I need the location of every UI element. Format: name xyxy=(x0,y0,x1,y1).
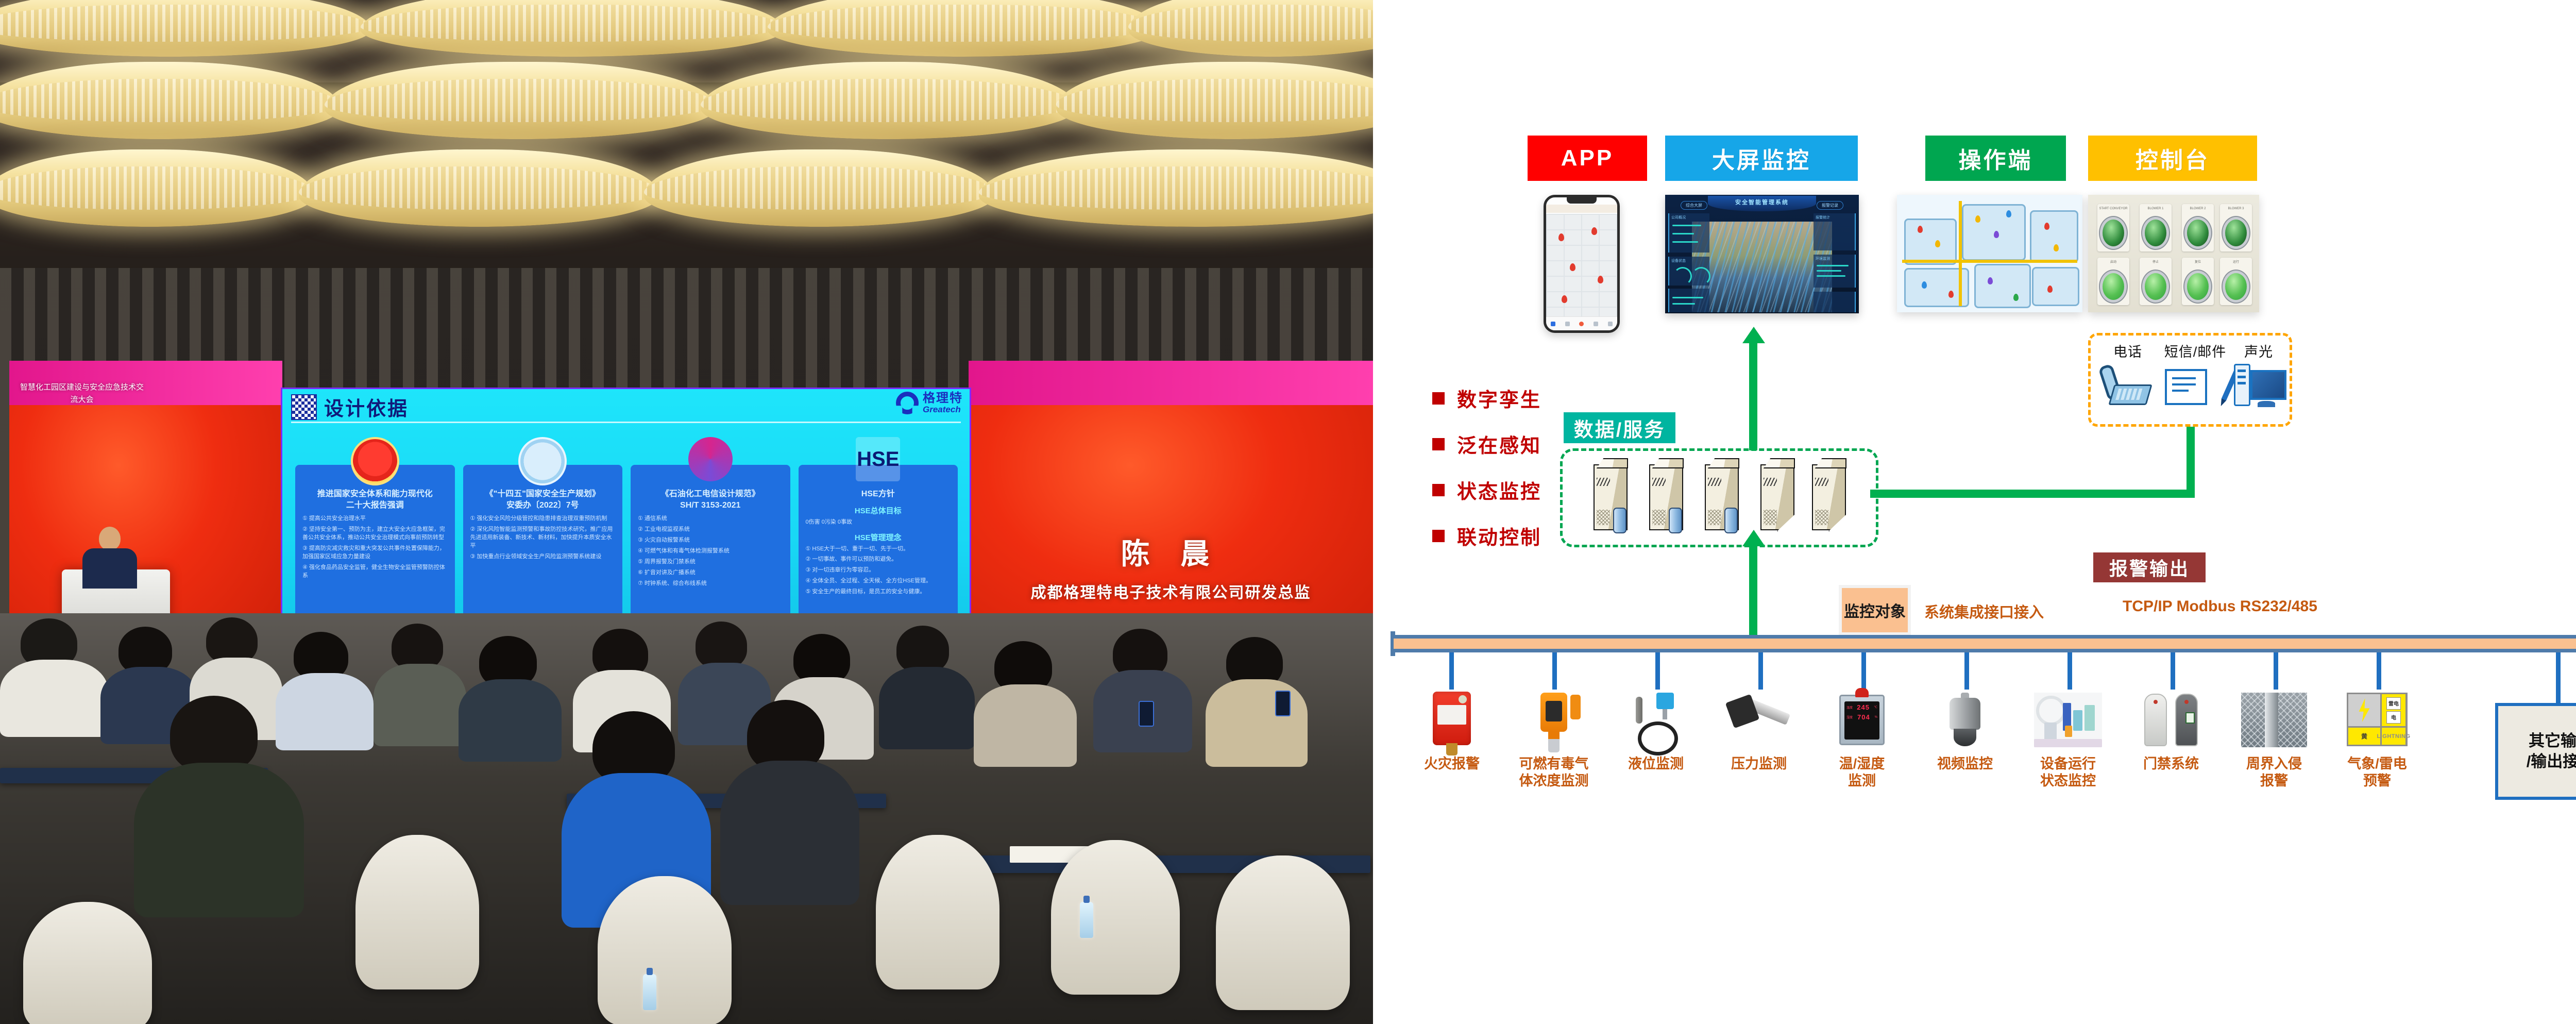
bullet-item: 泛在感知 xyxy=(1432,430,1541,458)
sensor-temp-humidity[interactable]: 温度245℃ 湿度704% 温/湿度 监测 xyxy=(1818,690,1906,790)
arrow-head-icon xyxy=(1742,327,1765,343)
console-button[interactable]: START CONVEYOR xyxy=(2097,204,2129,251)
header-big-screen-label: 大屏监控 xyxy=(1712,142,1811,175)
bullet-square-icon xyxy=(1432,484,1445,496)
drop-line xyxy=(1449,652,1454,690)
header-big-screen[interactable]: 大屏监控 xyxy=(1665,136,1858,181)
console-button-label: 复位 xyxy=(2182,261,2214,265)
sensor-fire-alarm[interactable]: 火灾报警 xyxy=(1408,690,1496,773)
column-3-heading: 《石油化工电信设计规范》 SH/T 3153-2021 xyxy=(638,489,783,511)
sensor-label: 视频监控 xyxy=(1921,756,2009,773)
server-icon xyxy=(1812,464,1846,530)
tag-data-service-label: 数据/服务 xyxy=(1574,414,1666,442)
hse-concept-line: ① HSE大于一切、重于一切、先于一切。 xyxy=(806,545,951,553)
indicator-lamp-icon xyxy=(2103,273,2124,300)
indicator-lamp-icon xyxy=(2103,220,2124,246)
alarm-output-label: 电话 xyxy=(2099,341,2157,361)
level-sensor-icon xyxy=(1612,690,1700,752)
dashboard-panel-right-3 xyxy=(1814,292,1856,312)
column-4-heading: HSE方针 xyxy=(806,489,951,500)
sensor-gas-detector[interactable]: 可燃有毒气 体浓度监测 xyxy=(1510,690,1598,790)
protocol-bus-list: TCP/IP Modbus RS232/485 xyxy=(2123,598,2317,615)
tab-center-icon[interactable] xyxy=(1579,322,1584,326)
temp-humidity-icon: 温度245℃ 湿度704% xyxy=(1818,690,1906,752)
hse-concept-line: ④ 全体全员、全过程、全天候、全方位HSE管理。 xyxy=(806,577,951,585)
tag-monitor-object: 监控对象 xyxy=(1842,588,1908,632)
console-button[interactable]: 停止 xyxy=(2140,258,2172,305)
drop-line xyxy=(1861,652,1866,690)
lightning-card-cn: 雷电 xyxy=(2386,697,2401,710)
sensor-cctv[interactable]: 视频监控 xyxy=(1921,690,2009,773)
phone-map-view xyxy=(1546,214,1617,317)
dashboard-3d-plant xyxy=(1692,222,1832,312)
alarm-output-sms: 短信/邮件 xyxy=(2157,341,2234,408)
column-1-line: ② 坚持安全第一、预防为主，建立大安全大应急框架，完善公共安全体系，推动公共安全… xyxy=(302,526,448,542)
indicator-lamp-icon xyxy=(2187,220,2209,246)
greatech-logo-icon xyxy=(896,392,919,414)
bullet-label: 联动控制 xyxy=(1457,522,1541,550)
console-button[interactable]: BLOWER 3 xyxy=(2220,204,2252,251)
conference-photo: 智慧化工园区建设与安全应急技术交流大会 陈 晨 成都格理特电子技术有限公司研发总… xyxy=(0,0,1373,1024)
column-3-line: ③ 火灾自动报警系统 xyxy=(638,536,783,545)
dashboard-panel-left-3 xyxy=(1668,289,1709,312)
alarm-output-label: 声光 xyxy=(2231,341,2286,361)
audible-visual-icon xyxy=(2231,364,2286,408)
field-bus-bar xyxy=(1394,635,2576,652)
lightning-warning-icon: 雷电电 黄 LIGHTNING xyxy=(2333,690,2421,752)
alarm-output-group: 电话 短信/邮件 声光 xyxy=(2088,333,2292,427)
column-1-line: ④ 强化食品药品安全监管，健全生物安全监管预警防控体系 xyxy=(302,564,448,580)
sensor-label: 周界入侵 报警 xyxy=(2230,756,2318,790)
bullet-item: 联动控制 xyxy=(1432,522,1541,550)
column-3-line: ① 通信系统 xyxy=(638,515,783,523)
logo-text-cn: 格理特 xyxy=(923,392,963,405)
header-app[interactable]: APP xyxy=(1528,136,1647,181)
console-button[interactable]: BLOWER 1 xyxy=(2140,204,2172,251)
phone-topbar xyxy=(1546,205,1617,213)
tab-profile-icon[interactable] xyxy=(1608,322,1613,326)
column-3-line: ④ 可燃气体和有毒气体检测报警系统 xyxy=(638,547,783,556)
hse-concept-heading: HSE管理理念 xyxy=(806,532,951,543)
sensor-label: 气象/雷电 预警 xyxy=(2333,756,2421,790)
gas-detector-icon xyxy=(1510,690,1598,752)
dashboard-pill-left[interactable]: 综合大屏 xyxy=(1681,201,1707,210)
header-app-label: APP xyxy=(1561,145,1614,171)
arrow-head-icon xyxy=(1742,530,1765,546)
sensor-pressure[interactable]: 压力监测 xyxy=(1715,690,1803,773)
perimeter-fence-icon xyxy=(2230,690,2318,752)
server-icon xyxy=(1760,464,1794,530)
sensor-label: 设备运行 状态监控 xyxy=(2024,756,2112,790)
cctv-camera-icon xyxy=(1921,690,2009,752)
tab-report-icon[interactable] xyxy=(1594,322,1598,326)
server-icon xyxy=(1594,464,1628,530)
indicator-lamp-icon xyxy=(2145,220,2166,246)
speaker-name: 陈 晨 xyxy=(969,531,1373,573)
header-operation-terminal-label: 操作端 xyxy=(1959,142,2033,175)
fire-alarm-icon xyxy=(1408,690,1496,752)
dashboard-panel-right-1: 报警统计 xyxy=(1814,213,1856,250)
audience-seating xyxy=(0,613,1373,1024)
sensor-label: 可燃有毒气 体浓度监测 xyxy=(1510,756,1598,790)
hse-badge-icon: HSE xyxy=(856,437,900,481)
server-icon xyxy=(1649,464,1683,530)
sensor-label: 温/湿度 监测 xyxy=(1818,756,1906,790)
console-button-label: BLOWER 1 xyxy=(2140,207,2172,211)
column-2-heading: 《"十四五"国家安全生产规划》 安委办〔2022〕7号 xyxy=(470,489,616,511)
console-button-label: BLOWER 2 xyxy=(2182,207,2214,211)
header-operation-terminal[interactable]: 操作端 xyxy=(1925,136,2066,181)
column-1-line: ① 提高公共安全治理水平 xyxy=(302,515,448,523)
drop-line xyxy=(2067,652,2072,690)
tag-monitor-object-label: 监控对象 xyxy=(1844,599,1906,622)
console-button-label: START CONVEYOR xyxy=(2097,207,2129,211)
server-icon xyxy=(1705,464,1739,530)
drop-line-other-io xyxy=(2556,652,2561,706)
sms-email-icon xyxy=(2157,364,2234,408)
dashboard-pill-right[interactable]: 报警记录 xyxy=(1817,201,1843,210)
column-2-line: ③ 加快重点行业领域安全生产风险监测预警系统建设 xyxy=(470,553,616,561)
other-io-interface-box[interactable]: 其它输入 /输出接口 xyxy=(2495,703,2576,800)
header-control-console[interactable]: 控制台 xyxy=(2088,136,2257,181)
arrow-bus-to-data xyxy=(1749,544,1757,640)
tag-data-service: 数据/服务 xyxy=(1564,412,1675,443)
protocol-system-integration: 系统集成接口接入 xyxy=(1924,600,2044,622)
column-3-line: ② 工业电视监视系统 xyxy=(638,526,783,534)
lightning-card-en: LIGHTNING xyxy=(2382,728,2405,745)
slide-title: 设计依据 xyxy=(324,393,409,421)
sensor-level[interactable]: 液位监测 xyxy=(1612,690,1700,773)
phone-notch xyxy=(1567,197,1597,204)
alarm-output-label: 短信/邮件 xyxy=(2157,341,2234,361)
hse-concept-line: ② 一切事故、事件可以预防和避免。 xyxy=(806,556,951,564)
indicator-lamp-icon xyxy=(2225,273,2247,300)
bullet-label: 泛在感知 xyxy=(1457,430,1541,458)
tag-alarm-output: 报警输出 xyxy=(2093,552,2206,582)
indicator-lamp-icon xyxy=(2187,273,2209,300)
tab-home-icon[interactable] xyxy=(1551,322,1555,326)
slide-divider xyxy=(291,422,961,423)
bullet-label: 状态监控 xyxy=(1457,476,1541,504)
alarm-output-audible: 声光 xyxy=(2231,341,2286,408)
arrow-data-to-alarm-v xyxy=(2187,426,2195,497)
console-button[interactable]: 运行 xyxy=(2220,258,2252,305)
drop-line xyxy=(2171,652,2175,690)
phone-tabbar[interactable] xyxy=(1546,316,1617,330)
ceiling-chandeliers xyxy=(0,0,1373,289)
bullet-square-icon xyxy=(1432,438,1445,450)
other-io-label: 其它输入 /输出接口 xyxy=(2527,731,2576,773)
indicator-lamp-icon xyxy=(2145,273,2166,300)
qr-code-icon xyxy=(291,394,317,420)
tab-alarm-icon[interactable] xyxy=(1565,322,1570,326)
panel-label: 环境监测 xyxy=(1816,256,1830,261)
bullet-label: 数字孪生 xyxy=(1457,384,1541,412)
dashboard-panel-left-1: 公司概况 xyxy=(1668,213,1709,253)
console-button-label: 启动 xyxy=(2097,261,2129,265)
drop-line xyxy=(1964,652,1969,690)
hse-concept-line: ⑤ 安全生产的最终目标，是员工的安全与健康。 xyxy=(806,588,951,596)
bullet-item: 数字孪生 xyxy=(1432,384,1541,412)
bullet-item: 状态监控 xyxy=(1432,476,1541,504)
drop-line xyxy=(1655,652,1660,690)
drop-line xyxy=(2377,652,2381,690)
column-1-line: ③ 提高防灾减灾救灾和重大突发公共事件处置保障能力，加强国家区域应急力量建设 xyxy=(302,545,448,561)
column-1-heading: 推进国家安全体系和能力现代化 二十大报告强调 xyxy=(302,489,448,511)
bullet-square-icon xyxy=(1432,530,1445,542)
console-button[interactable]: 启动 xyxy=(2097,258,2129,305)
bullet-square-icon xyxy=(1432,392,1445,405)
sensor-lightning[interactable]: 雷电电 黄 LIGHTNING 气象/雷电 预警 xyxy=(2333,690,2421,790)
emergency-ministry-icon xyxy=(518,437,567,485)
screenshot-root: 智慧化工园区建设与安全应急技术交流大会 陈 晨 成都格理特电子技术有限公司研发总… xyxy=(0,0,2576,1024)
tag-alarm-output-label: 报警输出 xyxy=(2109,554,2190,581)
sensor-label: 液位监测 xyxy=(1612,756,1700,773)
drop-line xyxy=(1758,652,1763,690)
panel-label: 设备状态 xyxy=(1671,258,1686,263)
sensor-access-gate[interactable]: 门禁系统 xyxy=(2127,690,2215,773)
national-emblem-icon xyxy=(351,437,399,485)
column-2-line: ① 强化安全风险分级管控和隐患排查治理双重预防机制 xyxy=(470,515,616,523)
panel-label: 报警统计 xyxy=(1816,215,1830,220)
left-banner-text: 智慧化工园区建设与安全应急技术交流大会 xyxy=(18,381,146,406)
dashboard-panel-right-2: 环境监测 xyxy=(1814,255,1856,288)
hse-goal-line: 0伤害 0污染 0事故 xyxy=(806,518,951,527)
drop-line xyxy=(2274,652,2278,690)
panel-label: 公司概况 xyxy=(1671,215,1686,220)
arrow-data-to-screen xyxy=(1749,341,1757,450)
sensor-equipment-status[interactable]: 设备运行 状态监控 xyxy=(2024,690,2112,790)
presenter-figure xyxy=(78,527,140,583)
logo-text-en: Greatech xyxy=(923,405,963,414)
big-screen-dashboard[interactable]: 安全智能管理系统 综合大屏 报警记录 公司概况 设备状态 xyxy=(1665,195,1859,313)
sensor-label: 火灾报警 xyxy=(1408,756,1496,773)
arrow-data-to-alarm-h xyxy=(1870,490,2195,498)
console-button-label: 运行 xyxy=(2220,261,2252,265)
control-console-panel[interactable]: START CONVEYOR BLOWER 1 BLOWER 2 BLOWER … xyxy=(2088,195,2259,312)
console-button-label: BLOWER 3 xyxy=(2220,207,2252,211)
sensor-label: 门禁系统 xyxy=(2127,756,2215,773)
column-3-line: ⑥ 扩音对讲及广播系统 xyxy=(638,569,783,577)
dashboard-panel-left-2: 设备状态 xyxy=(1668,257,1709,286)
operation-terminal-map[interactable] xyxy=(1897,195,2082,312)
column-2-line: ② 深化风险智能监测预警和事故防控技术研究，推广应用先进适用新装备、新技术、新材… xyxy=(470,526,616,550)
company-logo: 格理特 Greatech xyxy=(896,392,963,414)
sensor-perimeter[interactable]: 周界入侵 报警 xyxy=(2230,690,2318,790)
header-control-console-label: 控制台 xyxy=(2136,142,2210,175)
slide-header: 设计依据 xyxy=(291,393,409,421)
telephone-icon xyxy=(2099,364,2157,408)
console-button[interactable]: 复位 xyxy=(2182,258,2214,305)
access-gate-icon xyxy=(2127,690,2215,752)
indicator-lamp-icon xyxy=(2225,220,2247,246)
petrochemical-assoc-icon xyxy=(688,437,733,481)
drop-line xyxy=(1552,652,1557,690)
server-cluster-group xyxy=(1560,448,1878,547)
equipment-status-icon xyxy=(2024,690,2112,752)
lightning-card-yellow: 黄 xyxy=(2348,728,2380,745)
pressure-sensor-icon xyxy=(1715,690,1803,752)
capability-bullets: 数字孪生 泛在感知 状态监控 联动控制 xyxy=(1432,384,1541,567)
hse-concept-line: ③ 对一切违章行为零容忍。 xyxy=(806,566,951,575)
system-architecture-diagram: APP 大屏监控 操作端 控制台 xyxy=(1373,0,2576,1024)
console-button[interactable]: BLOWER 2 xyxy=(2182,204,2214,251)
alarm-output-phone: 电话 xyxy=(2099,341,2157,408)
hse-goal-heading: HSE总体目标 xyxy=(806,505,951,516)
speaker-role: 成都格理特电子技术有限公司研发总监 xyxy=(969,580,1373,602)
sensor-label: 压力监测 xyxy=(1715,756,1803,773)
console-button-label: 停止 xyxy=(2140,261,2172,265)
column-3-line: ⑤ 周界报警及门禁系统 xyxy=(638,558,783,566)
app-phone-mockup[interactable] xyxy=(1544,195,1620,333)
column-3-line: ⑦ 时钟系统、综合布线系统 xyxy=(638,580,783,588)
